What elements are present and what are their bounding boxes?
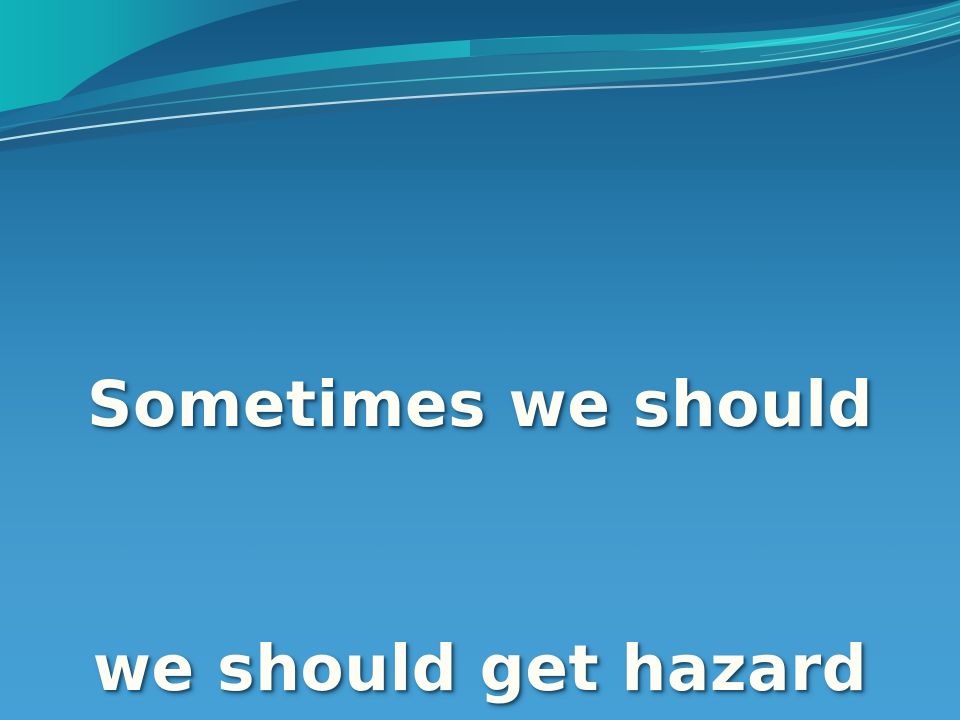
teal-field-left <box>0 0 300 112</box>
dark-wave-band <box>0 12 960 152</box>
accent-streak-1 <box>700 4 960 52</box>
teal-ribbon-main <box>0 0 960 140</box>
wave-ribbon-decoration <box>0 0 960 170</box>
dark-wave-band-upper <box>470 0 960 56</box>
accent-streak-3 <box>820 30 960 62</box>
hairline-light <box>0 40 960 140</box>
hairline-cyan <box>0 22 960 128</box>
slide-body-text: Sometimes we should we should get hazard… <box>0 185 960 720</box>
text-line-1: Sometimes we should <box>0 361 960 449</box>
presentation-slide: Sometimes we should we should get hazard… <box>0 0 960 720</box>
text-line-2: we should get hazard <box>0 625 960 713</box>
soft-shadow-sweep <box>0 54 960 170</box>
accent-streak-2 <box>760 16 960 56</box>
